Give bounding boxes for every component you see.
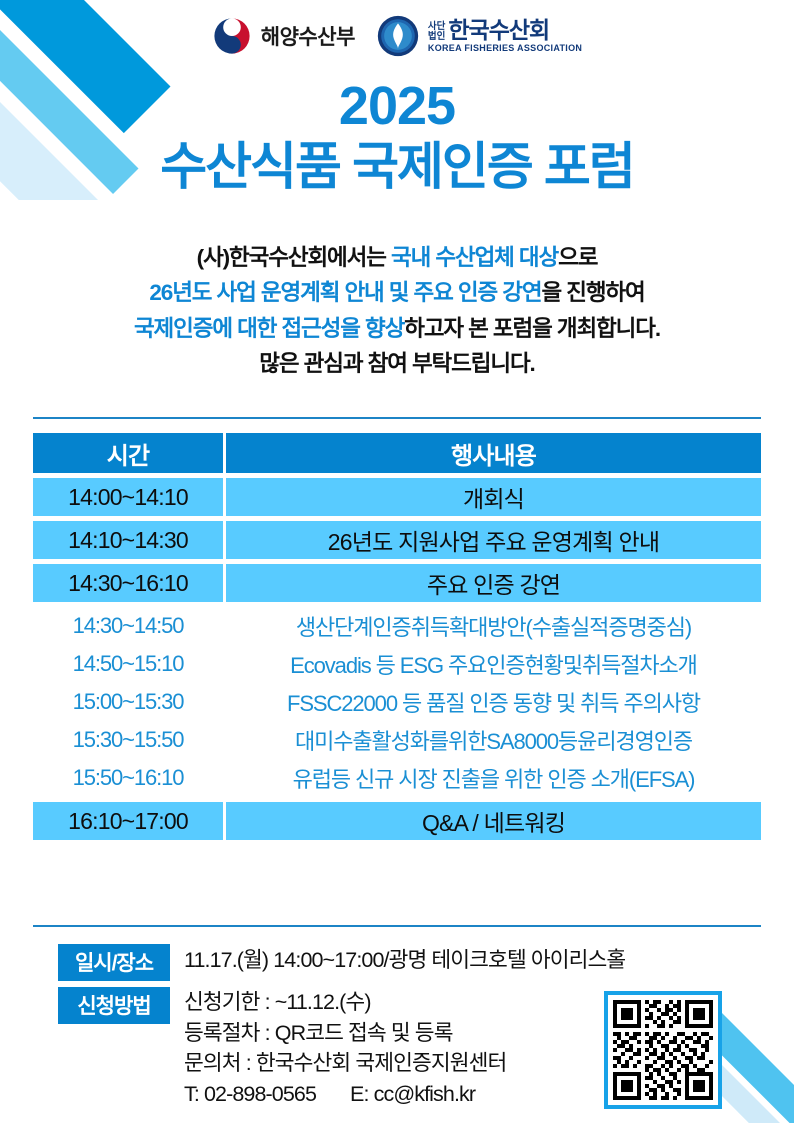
row-desc: 개회식 [226,478,761,516]
table-row: 14:30~16:10 주요 인증 강연 [33,564,761,602]
row-desc: Q&A / 네트워킹 [226,802,761,840]
apply-deadline: 신청기한 : ~11.12.(수) [184,987,506,1018]
table-row: 16:10~17:00 Q&A / 네트워킹 [33,802,761,840]
sub-session-row: 14:50~15:10 Ecovadis 등 ESG 주요인증현황및취득절차소개 [33,647,761,680]
sub-row-time: 15:50~16:10 [33,761,223,794]
intro-line-2: 26년도 사업 운영계획 안내 및 주요 인증 강연을 진행하여 [0,275,794,310]
intro-line3-highlight: 국제인증에 대한 접근성을 향상 [134,316,404,341]
apply-process: 등록절차 : QR코드 접속 및 등록 [184,1018,506,1049]
intro-line-3: 국제인증에 대한 접근성을 향상하고자 본 포럼을 개최합니다. [0,311,794,346]
sub-row-time: 15:00~15:30 [33,685,223,718]
association-name-ko: 한국수산회 [448,19,549,42]
sub-session-row: 14:30~14:50 생산단계인증취득확대방안(수출실적증명중심) [33,609,761,642]
row-desc: 26년도 지원사업 주요 운영계획 안내 [226,521,761,559]
association-logo: 사단 법인 한국수산회 KOREA FISHERIES ASSOCIATION [377,15,582,57]
association-name-en: KOREA FISHERIES ASSOCIATION [428,44,582,53]
table-row: 14:00~14:10 개회식 [33,478,761,516]
sub-row-desc: 유럽등 신규 시장 진출을 위한 인증 소개(EFSA) [226,761,761,794]
title-main: 수산식품 국제인증 포럼 [0,137,794,197]
qr-code[interactable] [604,991,722,1109]
row-time: 14:30~16:10 [33,564,223,602]
sub-session-row: 15:30~15:50 대미수출활성화를위한SA8000등윤리경영인증 [33,723,761,756]
info-value-datetime: 11.17.(월) 14:00~17:00/광명 테이크호텔 아이리스홀 [184,944,625,975]
sub-row-time: 14:50~15:10 [33,647,223,680]
intro-line1-part-c: 으로 [558,245,597,270]
sub-session-row: 15:00~15:30 FSSC22000 등 품질 인증 동향 및 취득 주의… [33,685,761,718]
info-datetime-line: 일시/장소 11.17.(월) 14:00~17:00/광명 테이크호텔 아이리… [58,944,758,981]
taegeuk-icon [212,16,252,56]
apply-contact: 문의처 : 한국수산회 국제인증지원센터 [184,1048,506,1079]
apply-email: E: cc@kfish.kr [350,1079,475,1110]
info-tag-datetime: 일시/장소 [58,944,170,981]
header-cell-time: 시간 [33,433,223,473]
info-tag-apply: 신청방법 [58,987,170,1024]
table-header-row: 시간 행사내용 [33,433,761,473]
intro-line3-part-b: 하고자 본 포럼을 개최합니다. [404,316,660,341]
apply-tel: T: 02-898-0565 [184,1079,316,1110]
intro-line1-highlight: 국내 수산업체 대상 [391,245,558,270]
intro-line-1: (사)한국수산회에서는 국내 수산업체 대상으로 [0,240,794,275]
title-year: 2025 [0,78,794,135]
ministry-logo: 해양수산부 [212,16,355,56]
sub-session-row: 15:50~16:10 유럽등 신규 시장 진출을 위한 인증 소개(EFSA) [33,761,761,794]
association-text: 사단 법인 한국수산회 KOREA FISHERIES ASSOCIATION [428,19,582,53]
sub-row-desc: Ecovadis 등 ESG 주요인증현황및취득절차소개 [226,647,761,680]
row-desc: 주요 인증 강연 [226,564,761,602]
kfa-emblem-icon [377,15,419,57]
sub-row-time: 15:30~15:50 [33,723,223,756]
qr-code-icon [613,1000,713,1100]
sub-row-desc: FSSC22000 등 품질 인증 동향 및 취득 주의사항 [226,685,761,718]
row-time: 14:00~14:10 [33,478,223,516]
poster-title: 2025 수산식품 국제인증 포럼 [0,78,794,197]
intro-line-4: 많은 관심과 참여 부탁드립니다. [0,346,794,381]
ministry-name-label: 해양수산부 [261,21,355,51]
divider-bottom [33,925,761,927]
intro-line2-highlight: 26년도 사업 운영계획 안내 및 주요 인증 강연 [149,280,541,305]
intro-line1-part-a: (사)한국수산회에서는 [197,245,391,270]
table-row: 14:10~14:30 26년도 지원사업 주요 운영계획 안내 [33,521,761,559]
intro-paragraph: (사)한국수산회에서는 국내 수산업체 대상으로 26년도 사업 운영계획 안내… [0,240,794,381]
row-time: 16:10~17:00 [33,802,223,840]
sub-row-time: 14:30~14:50 [33,609,223,642]
sub-session-list: 14:30~14:50 생산단계인증취득확대방안(수출실적증명중심) 14:50… [33,609,761,794]
apply-contact-row: T: 02-898-0565 E: cc@kfish.kr [184,1079,506,1110]
divider-top [33,417,761,419]
header-cell-desc: 행사내용 [226,433,761,473]
info-apply-details: 신청기한 : ~11.12.(수) 등록절차 : QR코드 접속 및 등록 문의… [184,987,506,1109]
logo-row: 해양수산부 사단 법인 한국수산회 KOREA FISHERIES ASSOCI… [0,8,794,64]
schedule-table: 시간 행사내용 14:00~14:10 개회식 14:10~14:30 26년도… [33,433,761,845]
association-prefix: 사단 법인 [428,22,445,42]
sub-row-desc: 대미수출활성화를위한SA8000등윤리경영인증 [226,723,761,756]
intro-line2-part-b: 을 진행하여 [541,280,644,305]
sub-row-desc: 생산단계인증취득확대방안(수출실적증명중심) [226,609,761,642]
row-time: 14:10~14:30 [33,521,223,559]
